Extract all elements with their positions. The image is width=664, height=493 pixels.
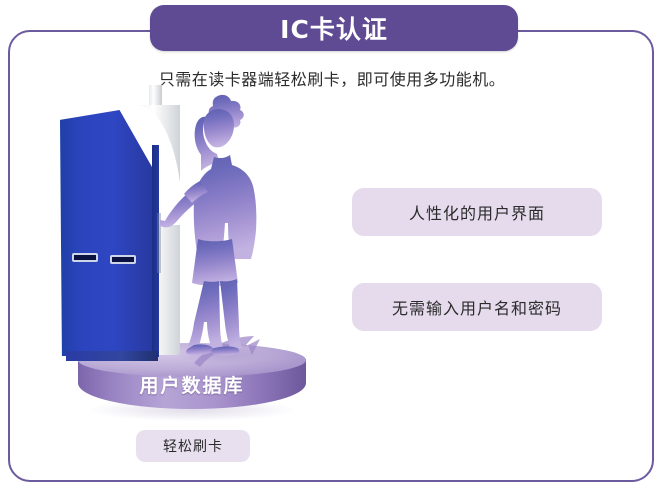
feature-box-1: 人性化的用户界面 bbox=[352, 188, 602, 236]
feature-label-1: 人性化的用户界面 bbox=[409, 200, 545, 224]
user-silhouette bbox=[160, 91, 268, 371]
illustration-stage: 用户数据库 bbox=[40, 85, 340, 425]
slide-canvas: IC卡认证 只需在读卡器端轻松刷卡，即可使用多功能机。 人性化的用户界面 无需输… bbox=[0, 0, 664, 493]
bottom-tag-label: 轻松刷卡 bbox=[163, 436, 223, 456]
card-slot-left[interactable] bbox=[72, 253, 98, 262]
feature-box-2: 无需输入用户名和密码 bbox=[352, 283, 602, 331]
kiosk-base-foot bbox=[66, 351, 158, 361]
page-title: IC卡认证 bbox=[280, 10, 388, 46]
page-title-pill: IC卡认证 bbox=[150, 5, 518, 51]
bottom-tag: 轻松刷卡 bbox=[136, 430, 250, 462]
user-database-label: 用户数据库 bbox=[78, 371, 306, 398]
card-slot-right[interactable] bbox=[110, 255, 136, 264]
feature-label-2: 无需输入用户名和密码 bbox=[392, 295, 562, 319]
